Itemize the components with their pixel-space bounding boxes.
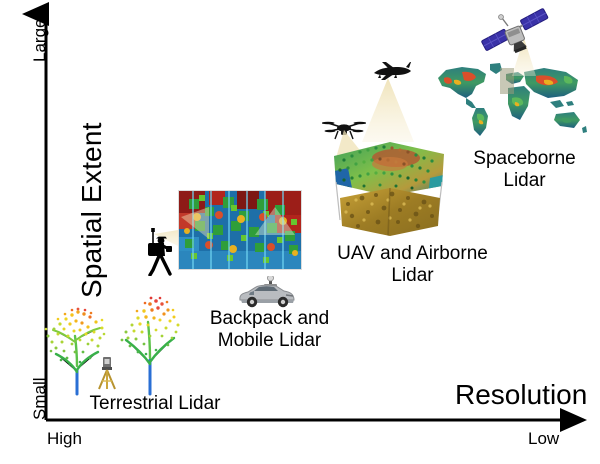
category-label-terrestrial: Terrestrial Lidar — [55, 393, 255, 415]
ground-swath-icon — [338, 186, 442, 238]
lidar-platform-diagram: Large Small Spatial Extent High Low Reso… — [0, 0, 600, 464]
backpack-walker-icon — [140, 228, 174, 276]
category-label-spaceborne: Spaceborne Lidar — [447, 148, 600, 193]
tree-point-cloud-icon — [110, 288, 190, 396]
mobile-mapping-car-icon — [236, 276, 298, 310]
x-axis-title: Resolution — [455, 379, 587, 411]
y-axis-top-label: Large — [30, 19, 50, 62]
x-axis-right-label: Low — [528, 429, 559, 449]
x-axis-left-label: High — [47, 429, 82, 449]
tripod-scanner-icon — [95, 355, 119, 391]
satellite-icon — [478, 6, 552, 62]
point-cloud-raster-icon — [178, 190, 302, 270]
y-axis-title: Spatial Extent — [76, 122, 108, 298]
category-label-uav-airborne: UAV and Airborne Lidar — [320, 243, 505, 288]
category-label-backpack-mobile: Backpack and Mobile Lidar — [182, 308, 357, 353]
airplane-icon — [372, 62, 412, 82]
